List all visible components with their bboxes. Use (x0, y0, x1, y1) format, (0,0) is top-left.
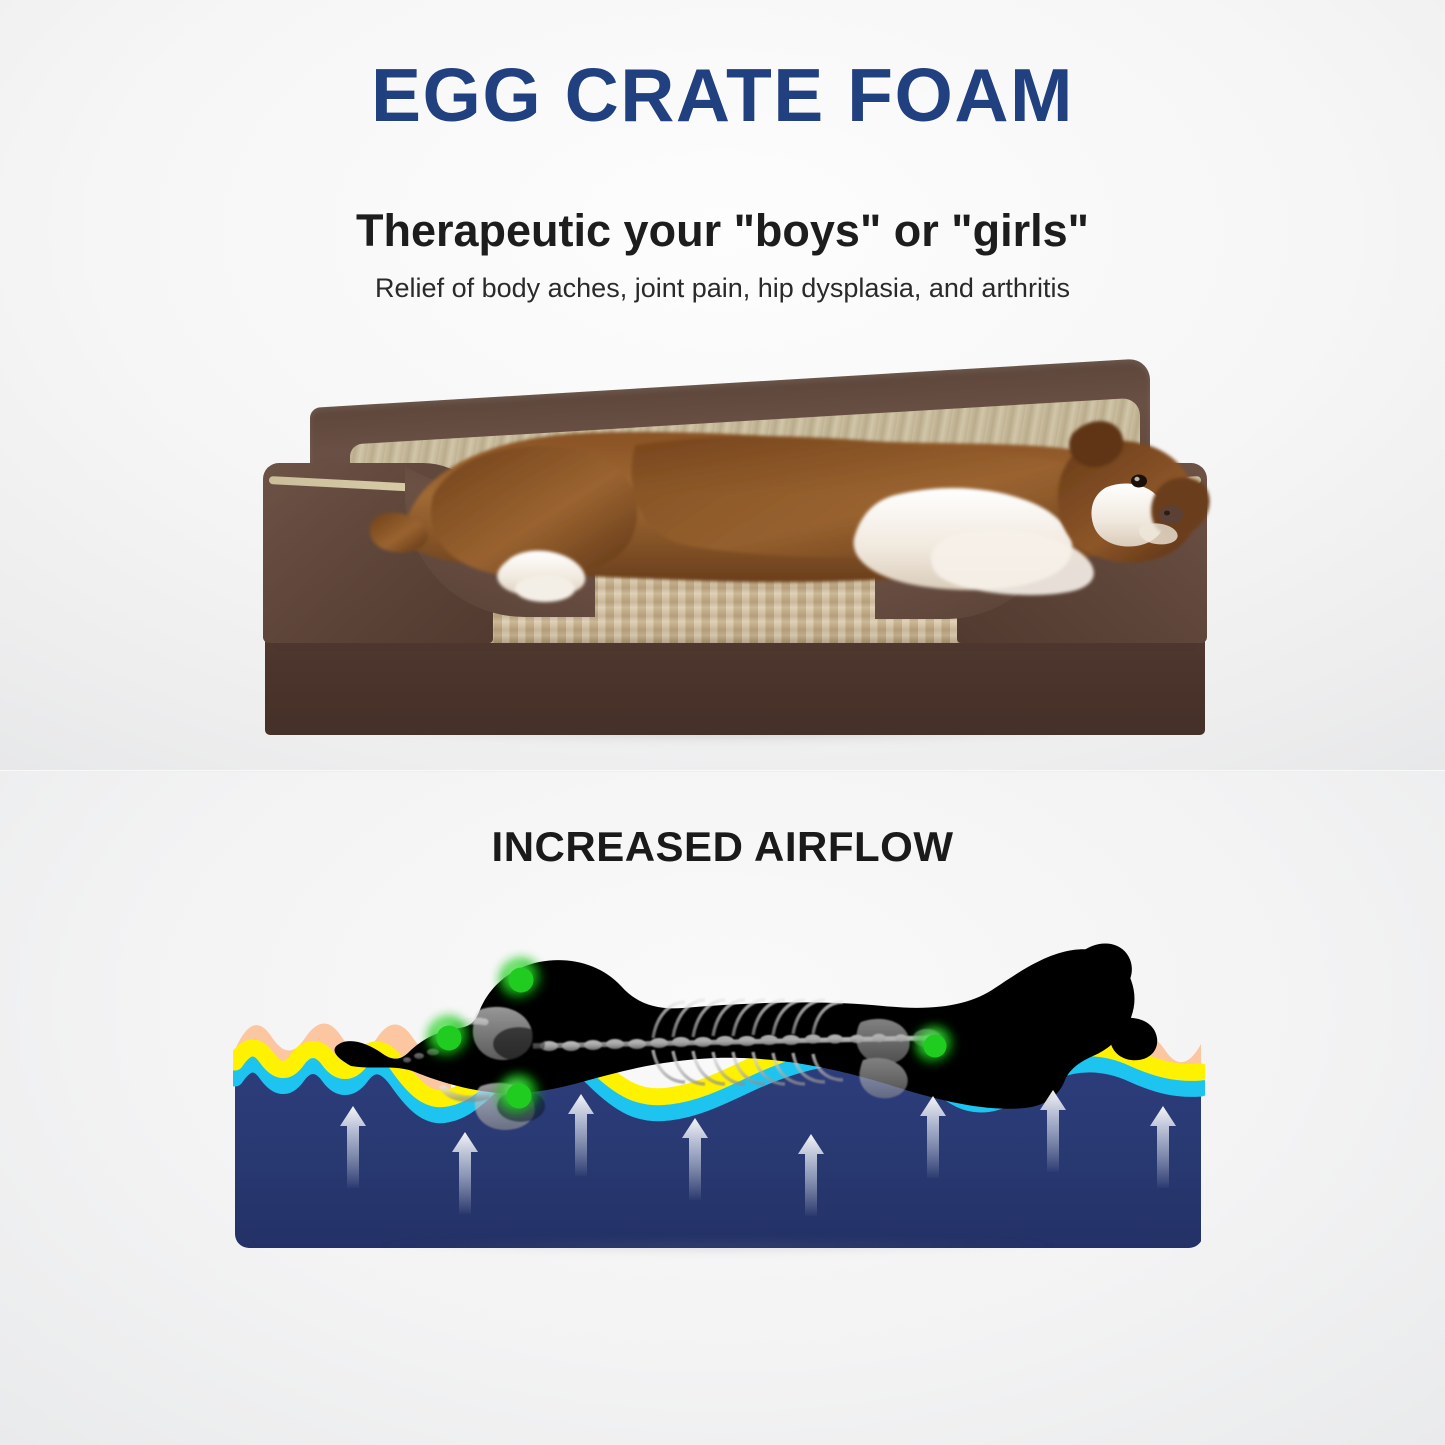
diagram-drop-shadow (253, 1240, 1183, 1260)
page-title: EGG CRATE FOAM (0, 52, 1445, 138)
subtitle-caption: Relief of body aches, joint pain, hip dy… (0, 273, 1445, 304)
infographic-page: EGG CRATE FOAM Therapeutic your "boys" o… (0, 0, 1445, 1445)
pressure-point-dot (915, 1026, 955, 1066)
pressure-point-dot (499, 958, 543, 1002)
pressure-point-dot (427, 1016, 471, 1060)
airflow-diagram (233, 910, 1205, 1250)
product-photo (255, 375, 1215, 735)
dog-illustration (255, 375, 1215, 735)
subtitle: Therapeutic your "boys" or "girls" (0, 205, 1445, 257)
pressure-point-dot (497, 1074, 541, 1118)
airflow-title: INCREASED AIRFLOW (0, 823, 1445, 871)
